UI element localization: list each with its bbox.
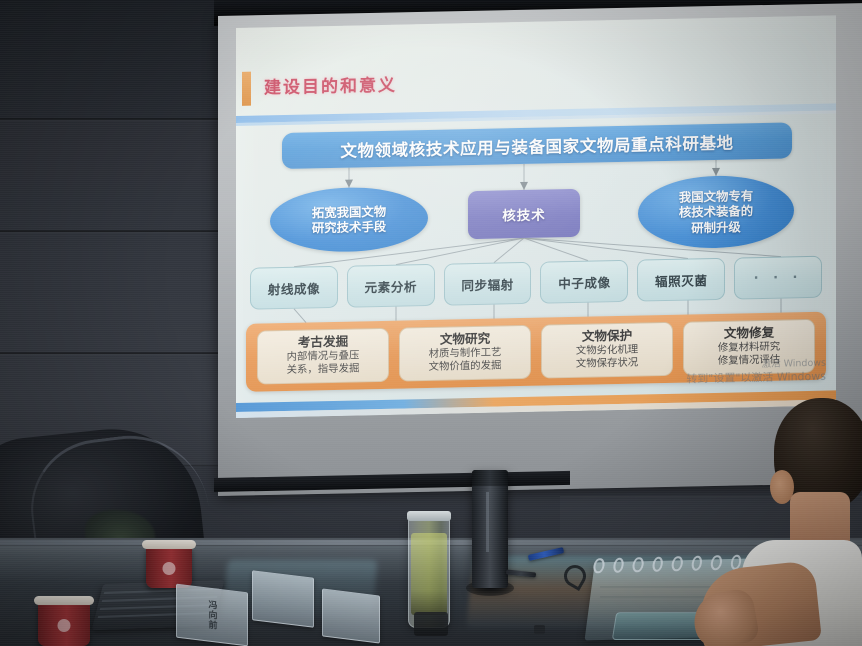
application-card-line2: 文物保存状况	[576, 357, 638, 372]
tumbler-base-cap	[414, 612, 448, 636]
diagram-node-left-label: 拓宽我国文物 研究技术手段	[312, 204, 386, 236]
wall-panel	[0, 232, 240, 354]
technique-chip-label: 辐照灭菌	[655, 270, 707, 290]
conference-room-scene: 建设目的和意义	[0, 0, 862, 646]
diagram-node-left: 拓宽我国文物 研究技术手段	[270, 186, 428, 253]
cup-rim	[34, 596, 94, 605]
diagram-node-center: 核技术	[468, 189, 580, 239]
presentation-slide: 建设目的和意义	[236, 15, 836, 418]
diagram-root-label: 文物领域核技术应用与装备国家文物局重点科研基地	[340, 130, 733, 162]
application-card: 文物研究 材质与制作工艺 文物价值的发掘	[399, 325, 531, 382]
technique-chip: 射线成像	[250, 266, 338, 310]
thermos-bottle	[472, 470, 508, 588]
cup-rim	[142, 540, 196, 549]
application-card-title: 文物保护	[582, 329, 632, 345]
notebook-rule	[600, 596, 720, 598]
application-card-line2: 关系，指导发掘	[287, 363, 360, 378]
thermos-cap	[472, 470, 508, 486]
technique-chip: 同步辐射	[444, 262, 532, 306]
diagram-root-node: 文物领域核技术应用与装备国家文物局重点科研基地	[282, 122, 792, 169]
paper-cup-front	[38, 602, 90, 646]
small-desk-item	[534, 625, 545, 634]
application-card-line2: 文物价值的发掘	[429, 360, 502, 375]
name-placard-label: 冯向前	[206, 599, 219, 631]
technique-chip-label: 元素分析	[365, 276, 417, 296]
technique-chip-row: 射线成像 元素分析 同步辐射 中子成像 辐照灭菌 · · ·	[250, 256, 822, 310]
windows-activation-watermark: 激活 Windows 转到"设置"以激活 Windows	[686, 358, 826, 387]
title-accent-bar	[242, 72, 251, 106]
tumbler-tea	[411, 533, 447, 615]
tumbler-lid	[407, 511, 451, 521]
paper-cup-back	[146, 546, 192, 588]
application-card-title: 考古发掘	[298, 334, 348, 350]
diagram-node-center-label: 核技术	[502, 204, 546, 225]
technique-chip: 辐照灭菌	[637, 258, 725, 302]
wall-panel	[0, 120, 240, 232]
wall-seam	[0, 230, 230, 232]
application-card: 文物保护 文物劣化机理 文物保存状况	[541, 322, 673, 379]
cup-logo	[163, 562, 176, 575]
diagram-node-right-label: 我国文物专有 核技术装备的 研制升级	[679, 188, 753, 235]
application-card-title: 文物修复	[724, 326, 774, 342]
watermark-line-2: 转到"设置"以激活 Windows	[686, 370, 826, 387]
diagram-node-right: 我国文物专有 核技术装备的 研制升级	[638, 174, 794, 249]
technique-chip-label: 同步辐射	[461, 274, 513, 294]
wall-seam	[0, 352, 230, 354]
technique-chip-ellipsis: · · ·	[734, 256, 822, 300]
name-placard	[252, 570, 314, 628]
technique-chip-label: · · ·	[754, 270, 803, 286]
technique-chip: 元素分析	[347, 264, 435, 308]
name-placard-primary: 冯向前	[176, 584, 248, 646]
application-card: 考古发掘 内部情况与叠压 关系，指导发掘	[257, 328, 389, 385]
technique-chip-label: 射线成像	[268, 278, 320, 298]
technique-chip: 中子成像	[540, 260, 628, 304]
application-card-title: 文物研究	[440, 332, 490, 348]
cup-logo	[58, 619, 71, 632]
name-placard	[322, 588, 380, 643]
technique-chip-label: 中子成像	[558, 272, 610, 292]
thermos-highlight	[486, 492, 489, 552]
slide-title: 建设目的和意义	[264, 71, 397, 99]
